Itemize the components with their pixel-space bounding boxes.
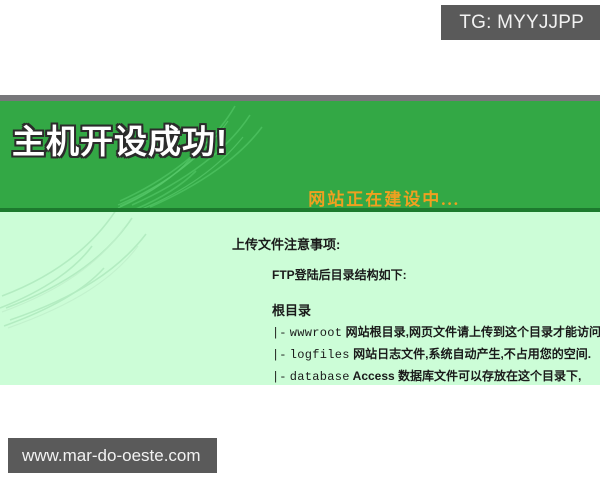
list-item: |- wwwroot 网站根目录,网页文件请上传到这个目录才能访问. — [272, 322, 600, 344]
directory-description: 网站日志文件,系统自动产生,不占用您的空间. — [353, 347, 591, 361]
feather-watermark-lower-icon — [0, 212, 260, 385]
directory-name: wwwroot — [290, 326, 343, 340]
content-inner: 上传文件注意事项: FTP登陆后目录结构如下: 根目录 |- wwwroot 网… — [0, 212, 600, 385]
root-directory-label: 根目录 — [272, 300, 311, 319]
directory-name: database — [290, 370, 350, 384]
list-item: |- database Access 数据库文件可以存放在这个目录下, — [272, 366, 600, 385]
ftp-structure-label: FTP登陆后目录结构如下: — [272, 266, 407, 283]
directory-description: 网站根目录,网页文件请上传到这个目录才能访问. — [346, 325, 600, 339]
banner-subtitle: 网站正在建设中... — [308, 185, 460, 210]
banner-bottom-rule — [0, 208, 600, 212]
green-banner: 主机开设成功! 网站正在建设中... — [0, 101, 600, 212]
tree-branch-glyph: |- — [272, 326, 286, 340]
directory-description: Access 数据库文件可以存放在这个目录下, — [353, 369, 582, 383]
tree-branch-glyph: |- — [272, 370, 286, 384]
url-watermark-badge: www.mar-do-oeste.com — [8, 438, 217, 473]
top-white-area: TG: MYYJJPP — [0, 0, 600, 95]
page-title: 主机开设成功! — [12, 115, 228, 163]
directory-tree: |- wwwroot 网站根目录,网页文件请上传到这个目录才能访问. |- lo… — [272, 322, 600, 385]
list-item: |- logfiles 网站日志文件,系统自动产生,不占用您的空间. — [272, 344, 600, 366]
tg-watermark-badge: TG: MYYJJPP — [441, 5, 600, 40]
tree-branch-glyph: |- — [272, 348, 286, 362]
directory-name: logfiles — [290, 348, 350, 362]
content-area: 上传文件注意事项: FTP登陆后目录结构如下: 根目录 |- wwwroot 网… — [0, 212, 600, 385]
notice-title: 上传文件注意事项: — [232, 234, 340, 253]
